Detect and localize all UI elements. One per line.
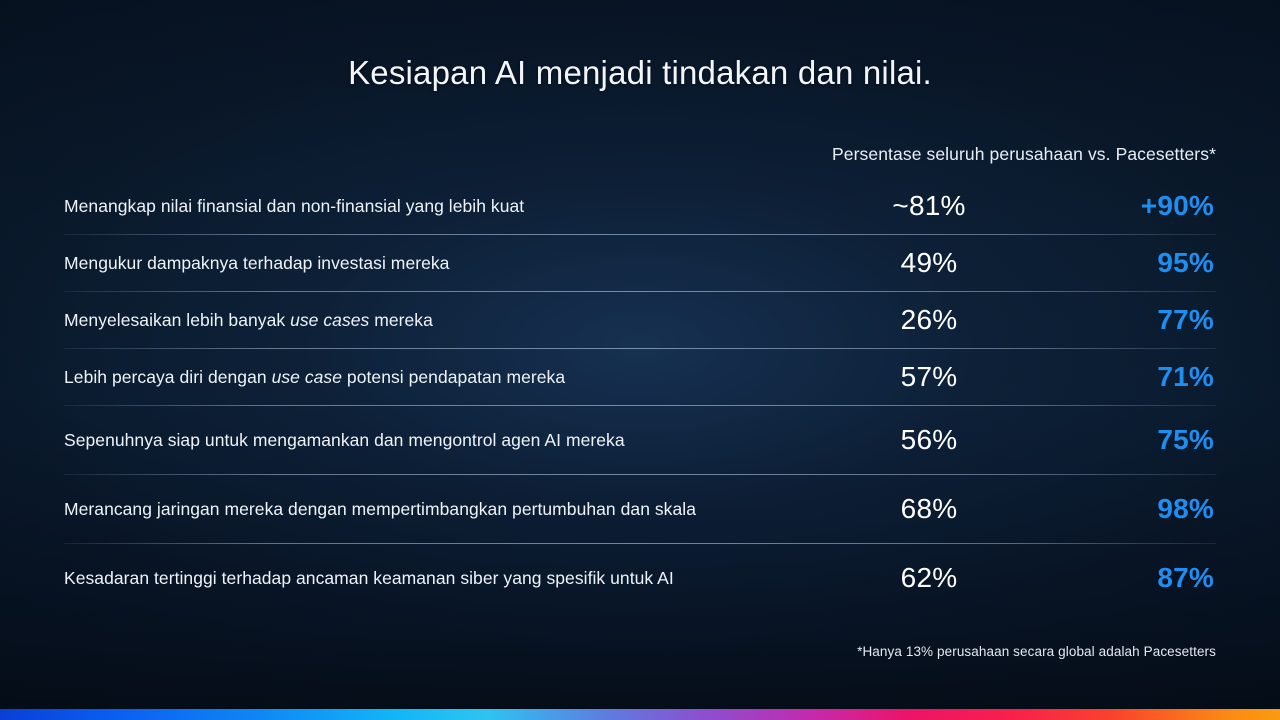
footnote: *Hanya 13% perusahaan secara global adal… xyxy=(857,644,1216,659)
row-label: Mengukur dampaknya terhadap investasi me… xyxy=(64,249,824,277)
column-header-label: Persentase seluruh perusahaan vs. Pacese… xyxy=(832,144,1216,165)
row-value-pacesetters: 77% xyxy=(1034,304,1216,336)
row-label-text: Lebih percaya diri dengan xyxy=(64,367,272,387)
row-label-text: Mengukur dampaknya terhadap investasi me… xyxy=(64,253,449,273)
row-label: Merancang jaringan mereka dengan mempert… xyxy=(64,495,824,523)
slide-canvas: Kesiapan AI menjadi tindakan dan nilai. … xyxy=(0,0,1280,720)
row-label: Menangkap nilai finansial dan non-finans… xyxy=(64,192,824,220)
row-label-text: Menyelesaikan lebih banyak xyxy=(64,310,290,330)
table-row: Menyelesaikan lebih banyak use cases mer… xyxy=(64,292,1216,348)
row-label: Menyelesaikan lebih banyak use cases mer… xyxy=(64,306,824,334)
row-label-text-suffix: potensi pendapatan mereka xyxy=(342,367,565,387)
table-row: Merancang jaringan mereka dengan mempert… xyxy=(64,475,1216,543)
bottom-gradient-bar xyxy=(0,709,1280,720)
row-value-pacesetters: 71% xyxy=(1034,361,1216,393)
table-row: Lebih percaya diri dengan use case poten… xyxy=(64,349,1216,405)
row-label-text: Merancang jaringan mereka dengan mempert… xyxy=(64,499,696,519)
row-value-all-companies: 56% xyxy=(824,424,1034,456)
row-value-pacesetters: +90% xyxy=(1034,190,1216,222)
row-label-text: Sepenuhnya siap untuk mengamankan dan me… xyxy=(64,430,625,450)
row-value-pacesetters: 87% xyxy=(1034,562,1216,594)
table-row: Sepenuhnya siap untuk mengamankan dan me… xyxy=(64,406,1216,474)
row-value-pacesetters: 75% xyxy=(1034,424,1216,456)
readiness-table: Menangkap nilai finansial dan non-finans… xyxy=(64,178,1216,612)
page-title: Kesiapan AI menjadi tindakan dan nilai. xyxy=(0,54,1280,92)
row-label: Kesadaran tertinggi terhadap ancaman kea… xyxy=(64,564,824,592)
row-value-all-companies: 49% xyxy=(824,247,1034,279)
table-row: Menangkap nilai finansial dan non-finans… xyxy=(64,178,1216,234)
row-value-all-companies: 68% xyxy=(824,493,1034,525)
row-label-text: Menangkap nilai finansial dan non-finans… xyxy=(64,196,524,216)
row-value-all-companies: 57% xyxy=(824,361,1034,393)
row-label-text-suffix: mereka xyxy=(369,310,433,330)
row-value-pacesetters: 95% xyxy=(1034,247,1216,279)
table-row: Kesadaran tertinggi terhadap ancaman kea… xyxy=(64,544,1216,612)
row-label: Lebih percaya diri dengan use case poten… xyxy=(64,363,824,391)
row-label-emphasis: use case xyxy=(272,367,342,387)
row-value-pacesetters: 98% xyxy=(1034,493,1216,525)
row-label-text: Kesadaran tertinggi terhadap ancaman kea… xyxy=(64,568,674,588)
row-value-all-companies: 62% xyxy=(824,562,1034,594)
row-label: Sepenuhnya siap untuk mengamankan dan me… xyxy=(64,426,824,454)
row-label-emphasis: use cases xyxy=(290,310,369,330)
row-value-all-companies: 26% xyxy=(824,304,1034,336)
table-row: Mengukur dampaknya terhadap investasi me… xyxy=(64,235,1216,291)
row-value-all-companies: ~81% xyxy=(824,190,1034,222)
